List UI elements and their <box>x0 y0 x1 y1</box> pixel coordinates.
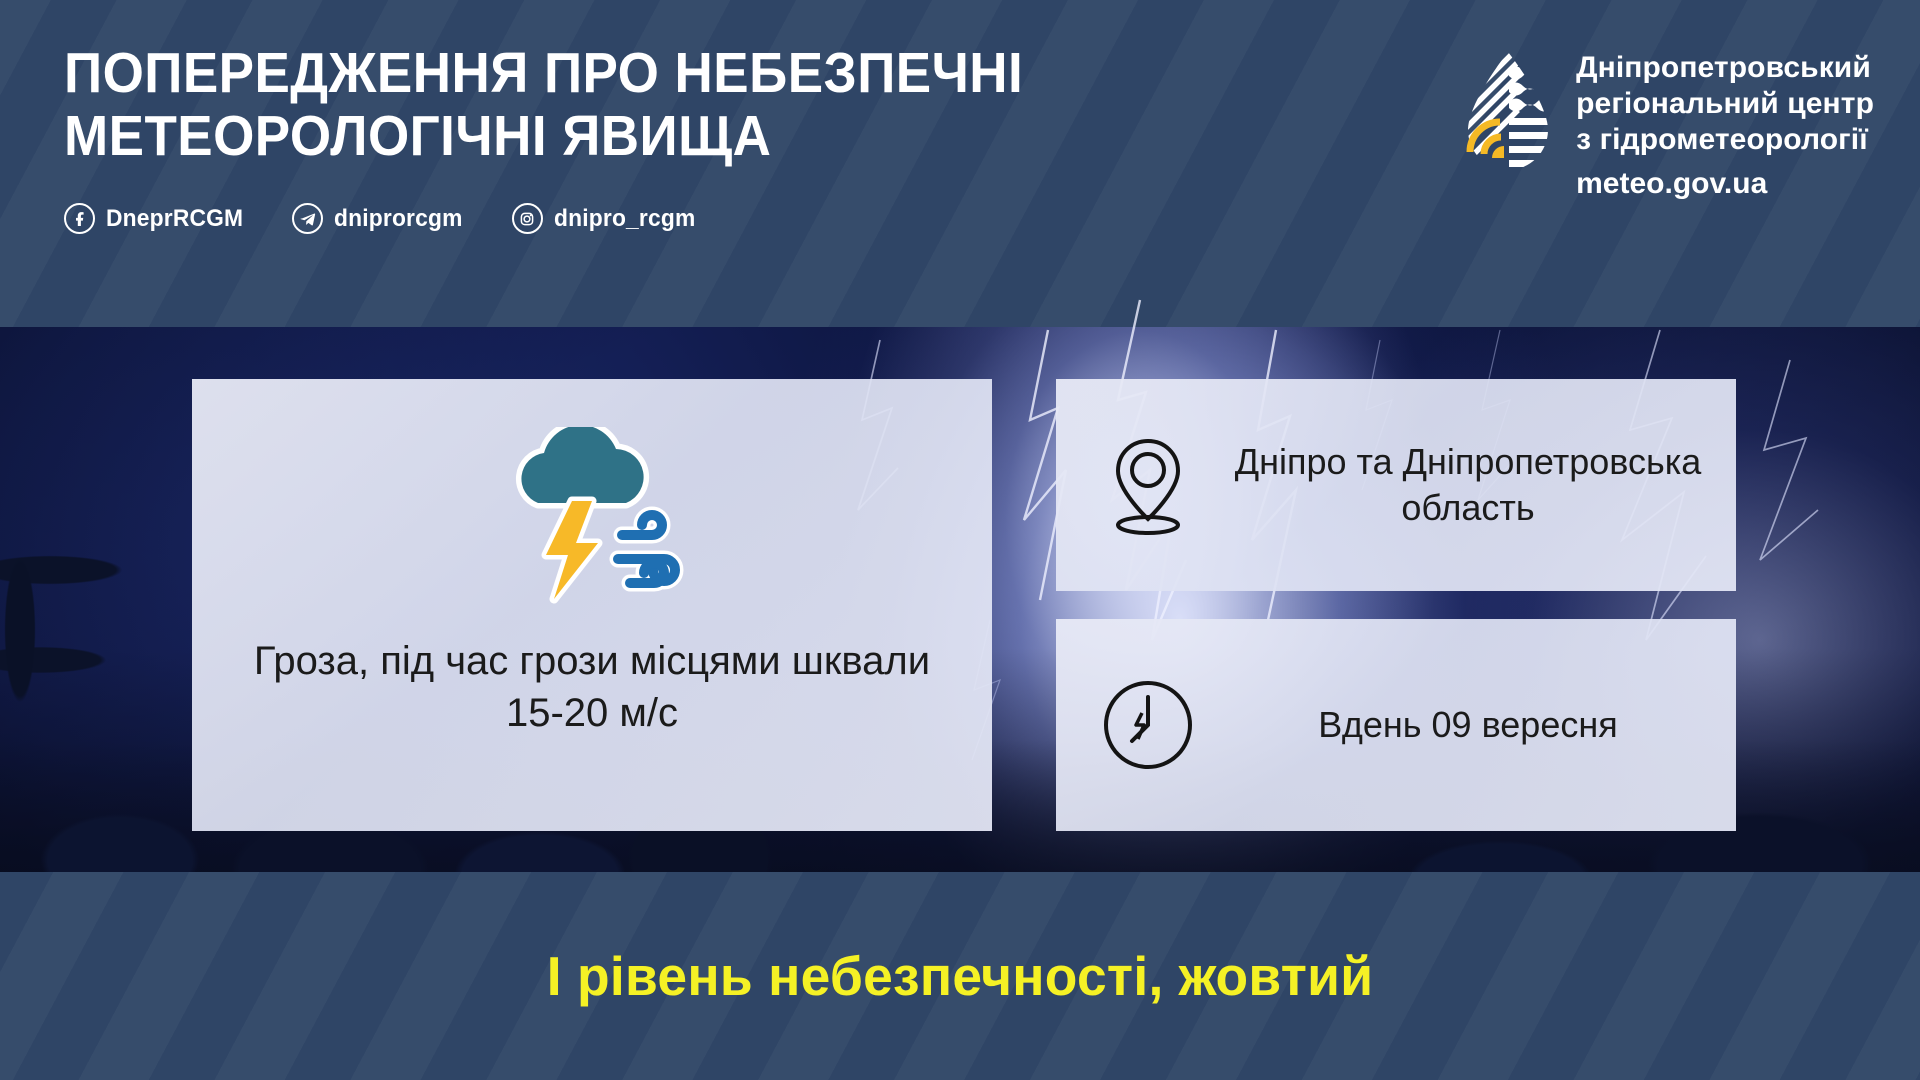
weather-warning-poster: ПОПЕРЕДЖЕННЯ ПРО НЕБЕЗПЕЧНІ МЕТЕОРОЛОГІЧ… <box>0 0 1920 1080</box>
time-card: Вдень 09 вересня <box>1056 619 1736 831</box>
facebook-icon <box>64 203 95 234</box>
social-instagram-label: dnipro_rcgm <box>554 205 695 233</box>
social-facebook[interactable]: DneprRCGM <box>64 203 250 234</box>
social-telegram[interactable]: dniprorcgm <box>292 203 469 234</box>
page-title: ПОПЕРЕДЖЕННЯ ПРО НЕБЕЗПЕЧНІ МЕТЕОРОЛОГІЧ… <box>64 42 1023 167</box>
social-instagram[interactable]: dnipro_rcgm <box>512 203 703 234</box>
social-facebook-label: DneprRCGM <box>106 205 243 233</box>
telegram-icon <box>292 203 323 234</box>
brand-line-1: Дніпропетровський <box>1576 50 1874 86</box>
footer-band: І рівень небезпечності, жовтий <box>0 872 1920 1080</box>
info-cards: Гроза, під час грози місцями шквали 15-2… <box>0 327 1920 872</box>
header-band: ПОПЕРЕДЖЕННЯ ПРО НЕБЕЗПЕЧНІ МЕТЕОРОЛОГІЧ… <box>0 0 1920 327</box>
brand-website-url[interactable]: meteo.gov.ua <box>1576 166 1874 202</box>
social-links: DneprRCGM dniprorcgm <box>64 203 1095 234</box>
hazard-card: Гроза, під час грози місцями шквали 15-2… <box>192 379 992 831</box>
thunderstorm-wind-icon <box>472 427 712 617</box>
brand-line-3: з гідрометеорології <box>1576 122 1874 158</box>
location-card: Дніпро та Дніпропетровська область <box>1056 379 1736 591</box>
danger-level-text: І рівень небезпечності, жовтий <box>547 944 1374 1008</box>
brand-block: Дніпропетровський регіональний центр з г… <box>1462 36 1874 202</box>
instagram-icon <box>512 203 543 234</box>
water-droplet-logo <box>1462 50 1554 174</box>
clock-icon <box>1102 673 1194 777</box>
social-telegram-label: dniprorcgm <box>334 205 463 233</box>
brand-text: Дніпропетровський регіональний центр з г… <box>1576 50 1874 202</box>
title-block: ПОПЕРЕДЖЕННЯ ПРО НЕБЕЗПЕЧНІ МЕТЕОРОЛОГІЧ… <box>64 36 1095 234</box>
brand-line-2: регіональний центр <box>1576 86 1874 122</box>
time-text: Вдень 09 вересня <box>1228 702 1708 748</box>
hazard-description: Гроза, під час грози місцями шквали 15-2… <box>240 635 944 739</box>
map-pin-icon <box>1102 433 1194 537</box>
location-text: Дніпро та Дніпропетровська область <box>1228 439 1708 531</box>
